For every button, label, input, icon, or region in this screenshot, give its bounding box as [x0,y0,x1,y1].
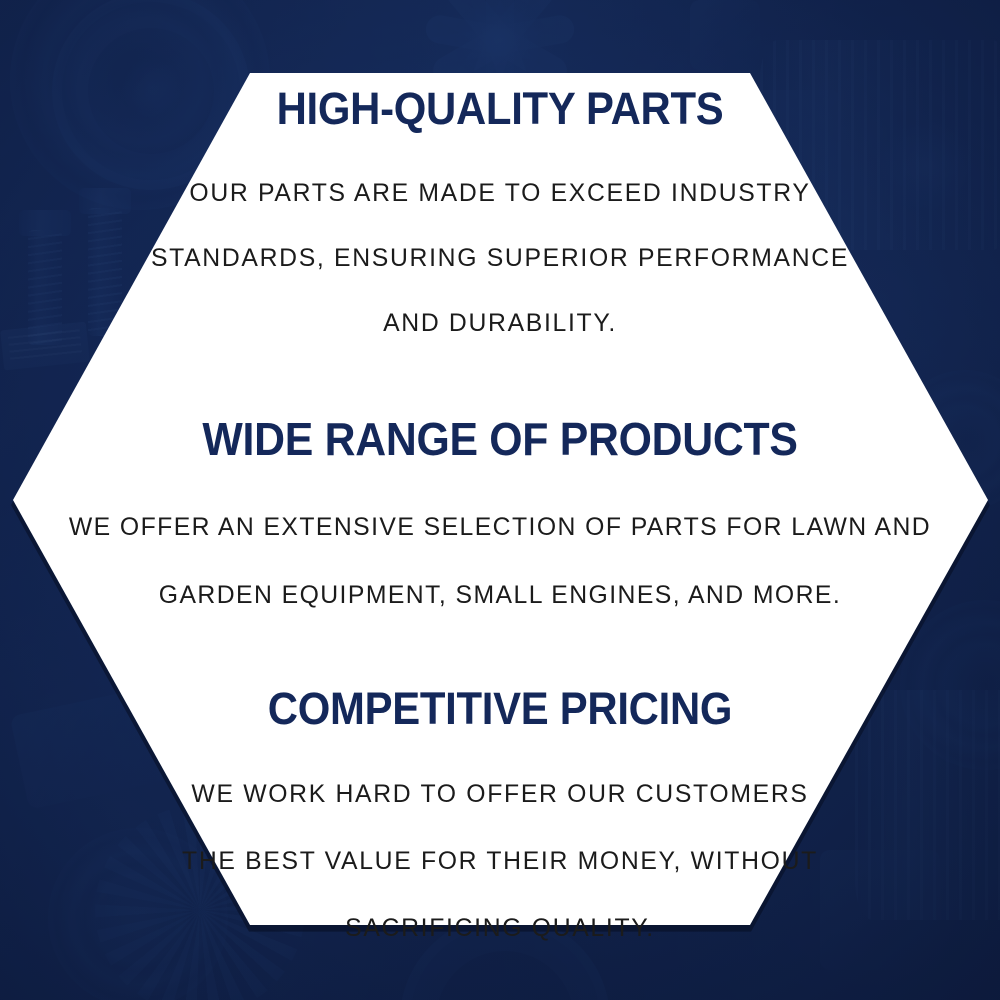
body-line: OUR PARTS ARE MADE TO EXCEED INDUSTRY [5,179,995,208]
section-heading: HIGH-QUALITY PARTS [35,86,965,132]
body-line: WE OFFER AN EXTENSIVE SELECTION OF PARTS… [5,513,995,542]
section-high-quality-parts: HIGH-QUALITY PARTS OUR PARTS ARE MADE TO… [0,86,1000,338]
section-body: WE OFFER AN EXTENSIVE SELECTION OF PARTS… [0,513,1000,610]
body-line: WE WORK HARD TO OFFER OUR CUSTOMERS [5,780,995,809]
body-line: AND DURABILITY. [5,309,995,338]
section-wide-range-of-products: WIDE RANGE OF PRODUCTS WE OFFER AN EXTEN… [0,416,1000,610]
section-body: OUR PARTS ARE MADE TO EXCEED INDUSTRY ST… [0,179,1000,338]
infographic-canvas: HIGH-QUALITY PARTS OUR PARTS ARE MADE TO… [0,0,1000,1000]
body-line: GARDEN EQUIPMENT, SMALL ENGINES, AND MOR… [5,581,995,610]
content-stack: HIGH-QUALITY PARTS OUR PARTS ARE MADE TO… [0,0,1000,1000]
body-line: THE BEST VALUE FOR THEIR MONEY, WITHOUT [5,847,995,876]
body-line: STANDARDS, ENSURING SUPERIOR PERFORMANCE [5,244,995,273]
section-competitive-pricing: COMPETITIVE PRICING WE WORK HARD TO OFFE… [0,686,1000,943]
body-line: SACRIFICING QUALITY. [5,914,995,943]
section-heading: COMPETITIVE PRICING [35,686,965,732]
section-body: WE WORK HARD TO OFFER OUR CUSTOMERS THE … [0,780,1000,943]
section-heading: WIDE RANGE OF PRODUCTS [35,416,965,463]
